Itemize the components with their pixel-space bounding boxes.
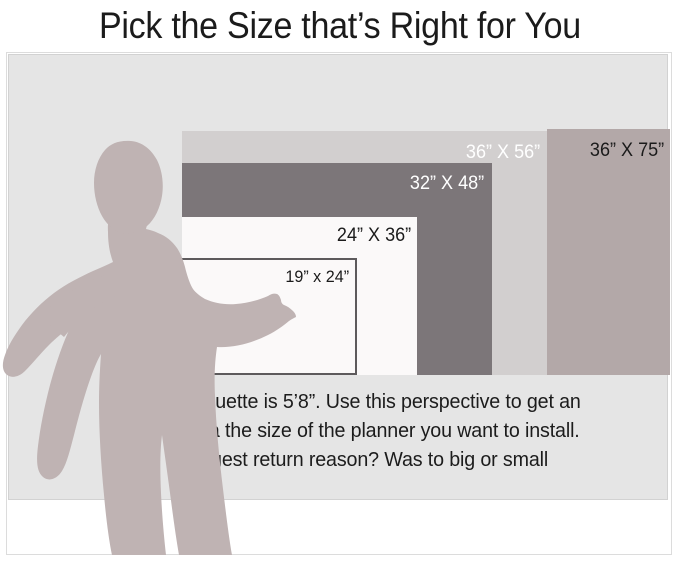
size-label-36x75: 36” X 75” <box>590 140 664 162</box>
caption-line-1: Silouette is 5’8”. Use this perspective … <box>183 387 642 416</box>
size-label-19x24: 19” x 24” <box>285 266 349 288</box>
size-label-24x36: 24” X 36” <box>337 225 411 247</box>
caption-block: Silouette is 5’8”. Use this perspective … <box>183 387 661 474</box>
caption-line-2: idea the size of the planner you want to… <box>183 416 642 445</box>
size-rect-19x24[interactable]: 19” x 24” <box>180 258 357 375</box>
caption-line-3: Biggest return reason? Was to big or sma… <box>183 445 642 474</box>
size-label-32x48: 32” X 48” <box>410 173 484 195</box>
size-comparison-stage: 36” X 75” 36” X 56” 32” X 48” 24” X 36” … <box>8 54 668 500</box>
size-rect-36x75[interactable]: 36” X 75” <box>547 129 670 375</box>
size-label-36x56: 36” X 56” <box>466 142 540 164</box>
page-title: Pick the Size that’s Right for You <box>99 6 581 46</box>
title-bar: Pick the Size that’s Right for You <box>0 0 679 52</box>
